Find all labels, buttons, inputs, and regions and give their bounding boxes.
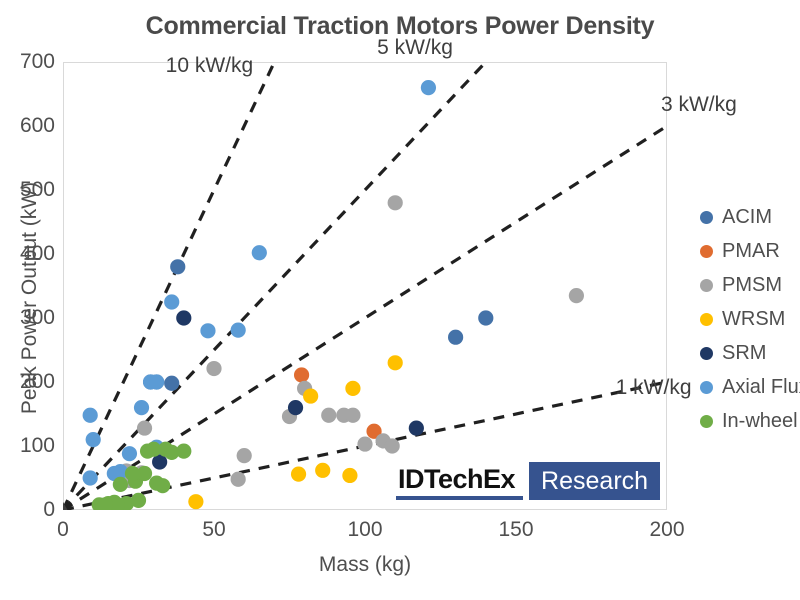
- data-point: [86, 432, 101, 447]
- data-point: [388, 195, 403, 210]
- legend-item-in-wheel[interactable]: In-wheel: [700, 404, 800, 438]
- data-point: [237, 448, 252, 463]
- legend-item-pmsm[interactable]: PMSM: [700, 268, 800, 302]
- legend-swatch-icon: [700, 279, 713, 292]
- data-point: [569, 288, 584, 303]
- data-point: [134, 400, 149, 415]
- legend-swatch-icon: [700, 313, 713, 326]
- x-axis-title: Mass (kg): [63, 553, 667, 577]
- data-point: [176, 310, 191, 325]
- reference-line-label: 1 kW/kg: [616, 376, 692, 400]
- data-point: [200, 323, 215, 338]
- y-axis-tick-label: 0: [3, 498, 55, 522]
- y-axis-title: Peak Power Output (kW): [18, 168, 42, 428]
- data-point: [176, 444, 191, 459]
- y-axis-tick-label: 700: [3, 50, 55, 74]
- data-point: [321, 408, 336, 423]
- data-point: [288, 400, 303, 415]
- x-axis-tick-label: 50: [202, 518, 225, 542]
- legend-item-srm[interactable]: SRM: [700, 336, 800, 370]
- legend: ACIMPMARPMSMWRSMSRMAxial FluxIn-wheel: [700, 200, 800, 438]
- data-point: [149, 374, 164, 389]
- legend-item-acim[interactable]: ACIM: [700, 200, 800, 234]
- reference-line-label: 5 kW/kg: [377, 36, 453, 60]
- legend-swatch-icon: [700, 415, 713, 428]
- legend-item-label: SRM: [722, 342, 766, 365]
- legend-item-label: PMSM: [722, 274, 782, 297]
- data-point: [448, 330, 463, 345]
- data-point: [164, 376, 179, 391]
- legend-item-pmar[interactable]: PMAR: [700, 234, 800, 268]
- legend-item-label: In-wheel: [722, 410, 798, 433]
- legend-item-wrsm[interactable]: WRSM: [700, 302, 800, 336]
- x-axis-tick-label: 150: [498, 518, 533, 542]
- legend-item-label: WRSM: [722, 308, 785, 331]
- data-point: [231, 323, 246, 338]
- data-point: [83, 470, 98, 485]
- data-point: [421, 80, 436, 95]
- y-axis-tick-label: 600: [3, 114, 55, 138]
- plot-canvas: [63, 62, 667, 510]
- data-point: [294, 367, 309, 382]
- legend-item-label: Axial Flux: [722, 376, 800, 399]
- data-point: [345, 408, 360, 423]
- legend-swatch-icon: [700, 211, 713, 224]
- x-axis-tick-label: 0: [57, 518, 69, 542]
- data-point: [131, 493, 146, 508]
- x-axis-tick-label: 100: [347, 518, 382, 542]
- data-point: [342, 468, 357, 483]
- data-point: [206, 361, 221, 376]
- y-axis-tick-label: 100: [3, 434, 55, 458]
- legend-swatch-icon: [700, 347, 713, 360]
- watermark: IDTechEx Research: [396, 462, 660, 500]
- data-point: [409, 420, 424, 435]
- watermark-tag: Research: [529, 462, 660, 500]
- data-point: [478, 310, 493, 325]
- data-point: [231, 472, 246, 487]
- data-point: [303, 388, 318, 403]
- data-point: [188, 494, 203, 509]
- data-point: [137, 420, 152, 435]
- data-point: [83, 408, 98, 423]
- reference-line-label: 3 kW/kg: [661, 93, 737, 117]
- legend-item-axial-flux[interactable]: Axial Flux: [700, 370, 800, 404]
- legend-item-label: ACIM: [722, 206, 772, 229]
- data-point: [122, 446, 137, 461]
- chart-screenshot: Commercial Traction Motors Power Density…: [0, 0, 800, 600]
- data-point: [291, 467, 306, 482]
- data-point: [113, 477, 128, 492]
- legend-swatch-icon: [700, 245, 713, 258]
- legend-item-label: PMAR: [722, 240, 780, 263]
- reference-line: [63, 62, 486, 510]
- watermark-brand: IDTechEx: [396, 462, 523, 500]
- data-point: [357, 436, 372, 451]
- data-point: [125, 466, 140, 481]
- x-axis-tick-label: 200: [649, 518, 684, 542]
- data-point: [345, 381, 360, 396]
- data-point: [164, 294, 179, 309]
- data-point: [315, 463, 330, 478]
- data-point: [149, 476, 164, 491]
- legend-swatch-icon: [700, 381, 713, 394]
- reference-line-label: 10 kW/kg: [166, 54, 254, 78]
- data-point: [252, 245, 267, 260]
- data-point: [388, 355, 403, 370]
- data-point: [170, 259, 185, 274]
- data-point: [385, 438, 400, 453]
